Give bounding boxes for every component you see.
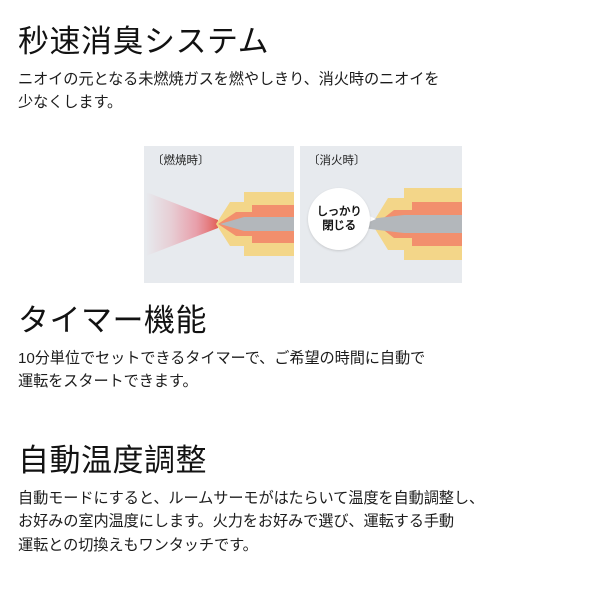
panel-extinguished: 〔消火時〕 しっかり 閉じる [300, 146, 462, 283]
callout-line-2: 閉じる [322, 219, 356, 233]
body-line: 運転をスタートできます。 [18, 370, 584, 394]
section-body-timer: 10分単位でセットできるタイマーで、ご希望の時間に自動で 運転をスタートできます… [18, 347, 584, 394]
body-line: お好みの室内温度にします。火力をお好みで選び、運転する手動 [18, 510, 584, 534]
product-feature-page: 秒速消臭システム ニオイの元となる未燃焼ガスを燃やしきり、消火時のニオイを 少な… [0, 0, 600, 600]
panel-burning: 〔燃焼時〕 [144, 146, 294, 283]
section-body-deodorize: ニオイの元となる未燃焼ガスを燃やしきり、消火時のニオイを 少なくします。 [18, 68, 584, 115]
burner-nozzle-flame-on-icon [144, 174, 294, 274]
section-deodorize: 秒速消臭システム ニオイの元となる未燃焼ガスを燃やしきり、消火時のニオイを 少な… [18, 24, 584, 115]
burner-illustration-figure: 〔燃焼時〕 [144, 146, 462, 283]
section-timer: タイマー機能 10分単位でセットできるタイマーで、ご希望の時間に自動で 運転をス… [18, 303, 584, 394]
body-line: 少なくします。 [18, 91, 584, 115]
body-line: 10分単位でセットできるタイマーで、ご希望の時間に自動で [18, 347, 584, 371]
section-heading-timer: タイマー機能 [18, 303, 584, 340]
callout-line-1: しっかり [317, 205, 362, 219]
section-heading-deodorize: 秒速消臭システム [18, 24, 584, 61]
panel-label-burning: 〔燃焼時〕 [152, 156, 210, 168]
panel-label-extinguished: 〔消火時〕 [308, 156, 366, 168]
callout-close-tightly: しっかり 閉じる [308, 188, 370, 250]
body-line: 運転との切換えもワンタッチです。 [18, 534, 584, 558]
section-heading-auto-temperature: 自動温度調整 [18, 443, 584, 480]
body-line: ニオイの元となる未燃焼ガスを燃やしきり、消火時のニオイを [18, 68, 584, 92]
section-auto-temperature: 自動温度調整 自動モードにすると、ルームサーモがはたらいて温度を自動調整し、 お… [18, 443, 584, 557]
section-body-auto-temperature: 自動モードにすると、ルームサーモがはたらいて温度を自動調整し、 お好みの室内温度… [18, 487, 584, 558]
body-line: 自動モードにすると、ルームサーモがはたらいて温度を自動調整し、 [18, 487, 584, 511]
